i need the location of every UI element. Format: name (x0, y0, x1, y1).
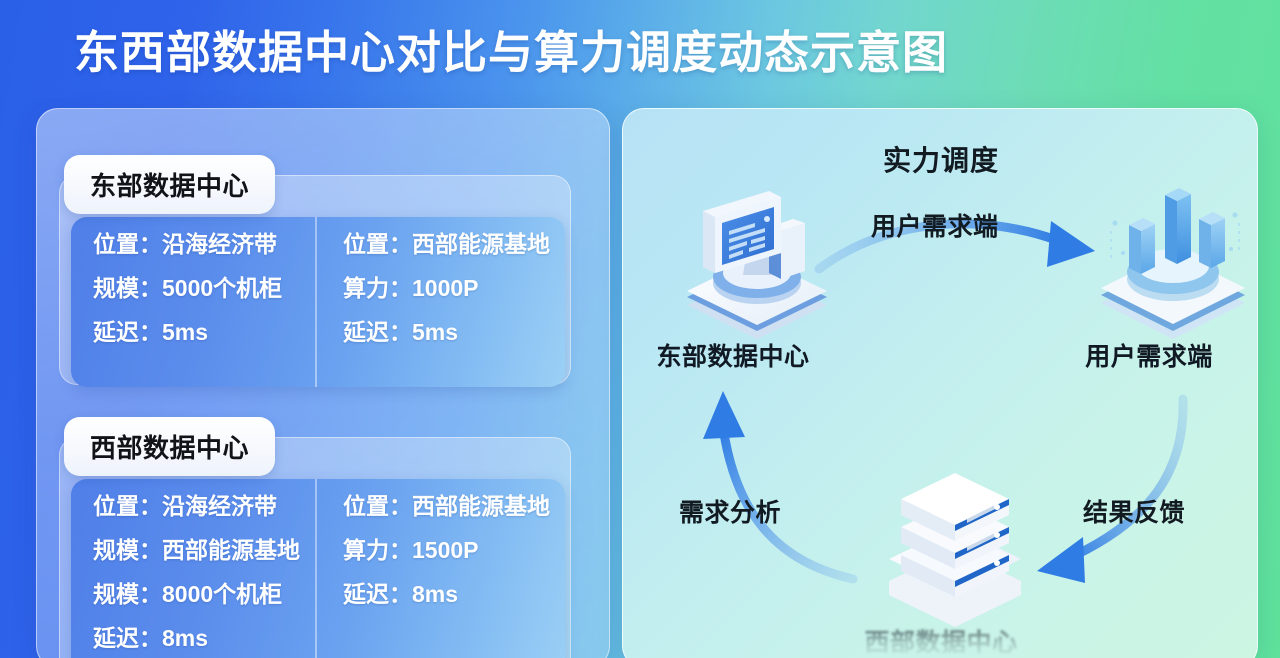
spec-row: 位置：沿海经济带 (93, 495, 315, 518)
card-body-east: 位置：沿海经济带 规模：5000个机柜 延迟：5ms 位置：西部能源基地 算力：… (71, 217, 565, 387)
cycle-title: 实力调度 (623, 139, 1258, 179)
arc-label-left: 需求分析 (679, 493, 781, 529)
monitor-icon (669, 187, 845, 347)
card-title-chip-east: 东部数据中心 (64, 155, 275, 214)
arrow-path-right (1063, 399, 1183, 561)
spec-row: 规模：5000个机柜 (93, 277, 315, 300)
spec-row: 延迟：8ms (93, 627, 315, 650)
spec-row: 位置：沿海经济带 (93, 233, 315, 256)
page-title: 东西部数据中心对比与算力调度动态示意图 (74, 16, 948, 81)
card-body-west: 位置：沿海经济带 规模：西部能源基地 规模：8000个机柜 延迟：8ms 位置：… (71, 479, 565, 658)
bar-chart-icon (1085, 187, 1258, 347)
spec-row: 延迟：8ms (343, 583, 565, 606)
node-label-west-datacenter: 西部数据中心 (841, 623, 1041, 658)
spec-row: 延迟：5ms (343, 321, 565, 344)
page-header: 东西部数据中心对比与算力调度动态示意图 (0, 0, 1280, 96)
node-label-east-datacenter: 东部数据中心 (633, 337, 833, 373)
spec-row: 规模：西部能源基地 (93, 539, 315, 562)
spec-row: 规模：8000个机柜 (93, 583, 315, 606)
arc-label-right: 结果反馈 (1083, 493, 1185, 529)
spec-row: 位置：西部能源基地 (343, 233, 565, 256)
spec-row: 算力：1500P (343, 539, 565, 562)
spec-row: 位置：西部能源基地 (343, 495, 565, 518)
server-stack-icon (875, 481, 1035, 631)
spec-row: 延迟：5ms (93, 321, 315, 344)
arc-label-top: 用户需求端 (871, 207, 999, 243)
card-title-chip-west: 西部数据中心 (64, 417, 275, 476)
card-column-left-east: 位置：沿海经济带 规模：5000个机柜 延迟：5ms (71, 217, 315, 387)
spec-row: 算力：1000P (343, 277, 565, 300)
arrow-head-right (1037, 537, 1085, 583)
comparison-panel: 东部数据中心 位置：沿海经济带 规模：5000个机柜 延迟：5ms 位置：西部能… (36, 108, 610, 658)
node-label-user-demand: 用户需求端 (1049, 337, 1249, 373)
card-column-right-west: 位置：西部能源基地 算力：1500P 延迟：8ms (315, 479, 565, 658)
scheduling-cycle-panel: 实力调度 用户需求端 结果反馈 需求分析 (622, 108, 1258, 658)
card-column-left-west: 位置：沿海经济带 规模：西部能源基地 规模：8000个机柜 延迟：8ms (71, 479, 315, 658)
arrow-head-left (703, 391, 745, 439)
card-column-right-east: 位置：西部能源基地 算力：1000P 延迟：5ms (315, 217, 565, 387)
